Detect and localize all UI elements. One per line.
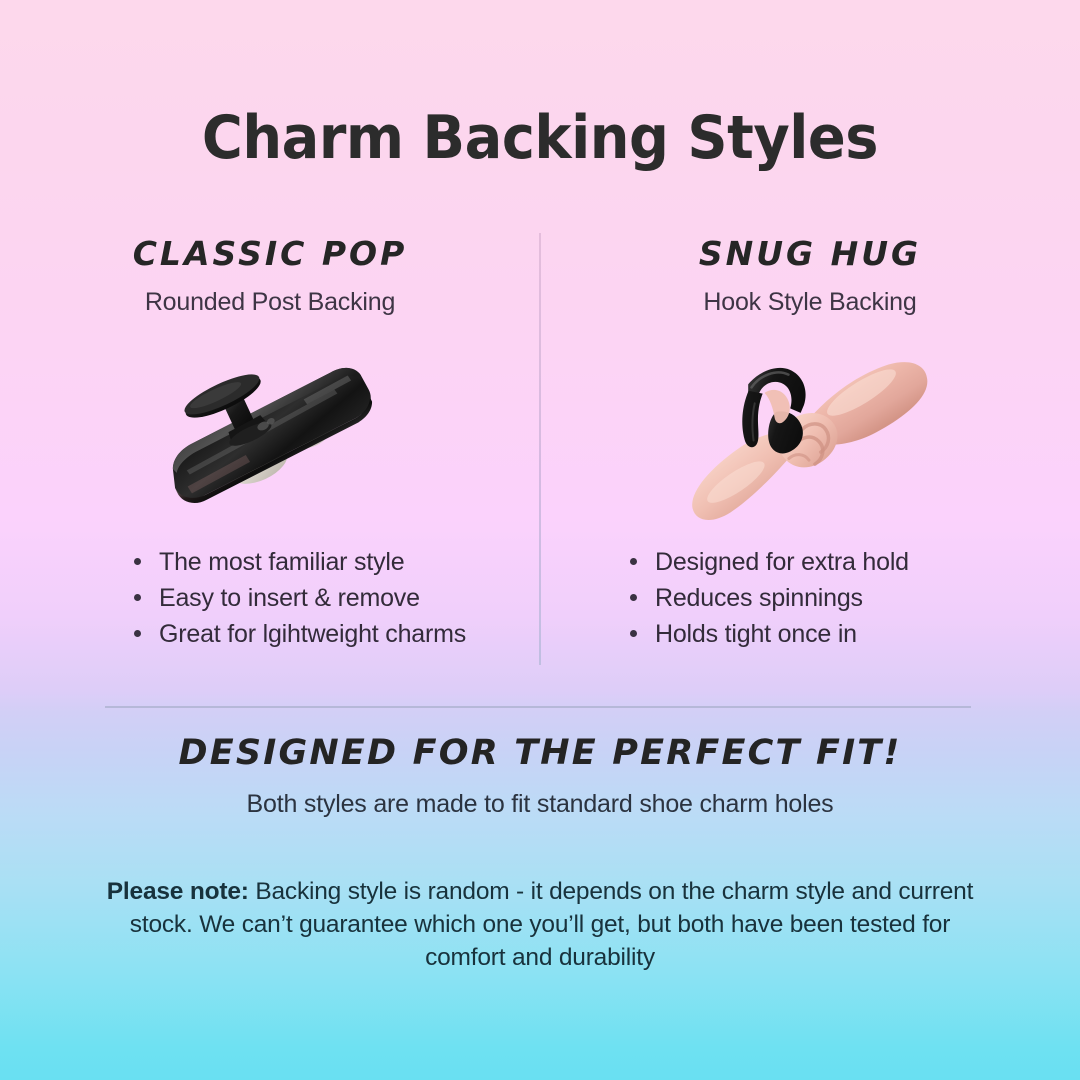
list-item: Designed for extra hold xyxy=(628,546,1070,579)
column-classic-pop: CLASSIC POP Rounded Post Backing xyxy=(10,228,530,673)
column-subtitle-classic-pop: Rounded Post Backing xyxy=(10,288,530,317)
bullet-dot-icon xyxy=(134,594,141,601)
list-item-text: Designed for extra hold xyxy=(655,548,909,576)
column-title-snug-hug: SNUG HUG xyxy=(550,234,1070,273)
bullet-dot-icon xyxy=(134,630,141,637)
list-item: Easy to insert & remove xyxy=(132,582,530,615)
bullet-list-classic-pop: The most familiar style Easy to insert &… xyxy=(132,546,530,651)
disclaimer-body: Backing style is random - it depends on … xyxy=(130,878,973,971)
page-title: Charm Backing Styles xyxy=(38,103,1042,173)
bullet-dot-icon xyxy=(630,630,637,637)
disclaimer-note: Please note: Backing style is random - i… xyxy=(100,875,980,974)
column-subtitle-snug-hug: Hook Style Backing xyxy=(550,288,1070,317)
photo-snug-hug xyxy=(550,331,1070,546)
photo-classic-pop xyxy=(10,331,530,546)
bullet-dot-icon xyxy=(134,558,141,565)
disclaimer-label: Please note: xyxy=(107,878,249,905)
poster-canvas: Charm Backing Styles CLASSIC POP Rounded… xyxy=(0,0,1080,1080)
comparison-columns: CLASSIC POP Rounded Post Backing xyxy=(0,228,1080,673)
pink-charm-hook-illustration xyxy=(660,331,960,541)
list-item-text: Great for lgihtweight charms xyxy=(159,620,466,648)
footer-subheading: Both styles are made to fit standard sho… xyxy=(0,790,1080,819)
list-item: Holds tight once in xyxy=(628,618,1070,651)
list-item: Reduces spinnings xyxy=(628,582,1070,615)
bullet-dot-icon xyxy=(630,558,637,565)
list-item-text: The most familiar style xyxy=(159,548,404,576)
bullet-list-snug-hug: Designed for extra hold Reduces spinning… xyxy=(628,546,1070,651)
list-item: The most familiar style xyxy=(132,546,530,579)
footer-heading: DESIGNED FOR THE PERFECT FIT! xyxy=(0,733,1080,773)
black-charm-post-illustration xyxy=(120,331,420,541)
list-item-text: Easy to insert & remove xyxy=(159,584,420,612)
list-item-text: Holds tight once in xyxy=(655,620,857,648)
section-divider xyxy=(105,706,971,708)
bullet-dot-icon xyxy=(630,594,637,601)
list-item-text: Reduces spinnings xyxy=(655,584,863,612)
list-item: Great for lgihtweight charms xyxy=(132,618,530,651)
column-title-classic-pop: CLASSIC POP xyxy=(10,234,530,273)
column-snug-hug: SNUG HUG Hook Style Backing xyxy=(550,228,1070,673)
